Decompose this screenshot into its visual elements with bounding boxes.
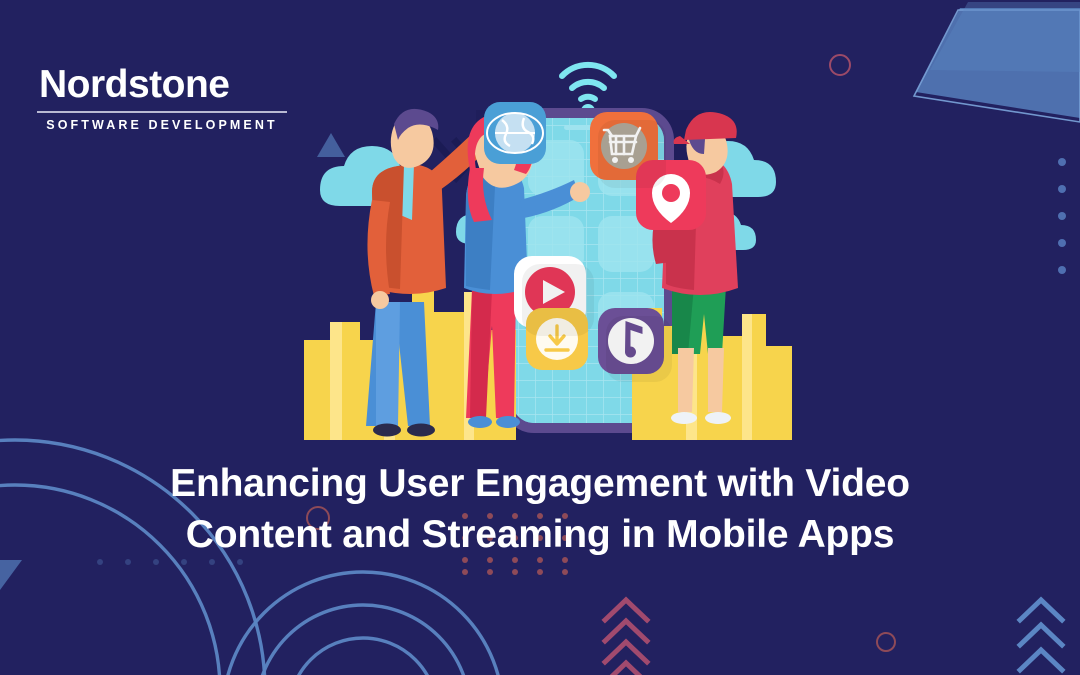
circle-outline [877,633,895,651]
circle-outline [830,55,850,75]
dot-column [1058,158,1066,274]
slide-canvas: Nordstone SOFTWARE DEVELOPMENT [0,0,1080,675]
headline-line-2: Content and Streaming in Mobile Apps [40,509,1040,560]
brand-tagline: SOFTWARE DEVELOPMENT [37,119,287,132]
chevron-up-group [1020,600,1062,670]
logo-divider [37,111,287,113]
brand-logo: Nordstone SOFTWARE DEVELOPMENT [37,65,287,131]
chevron-up-group [605,600,647,675]
page-title: Enhancing User Engagement with Video Con… [0,458,1080,561]
hero-illustration [280,40,800,450]
headline-line-1: Enhancing User Engagement with Video [40,458,1040,509]
brand-name: Nordstone [37,65,287,104]
triangle-shape [0,560,22,590]
trapezoid-shape [914,2,1080,122]
globe-icon[interactable] [484,102,546,164]
concentric-arcs [223,572,503,675]
